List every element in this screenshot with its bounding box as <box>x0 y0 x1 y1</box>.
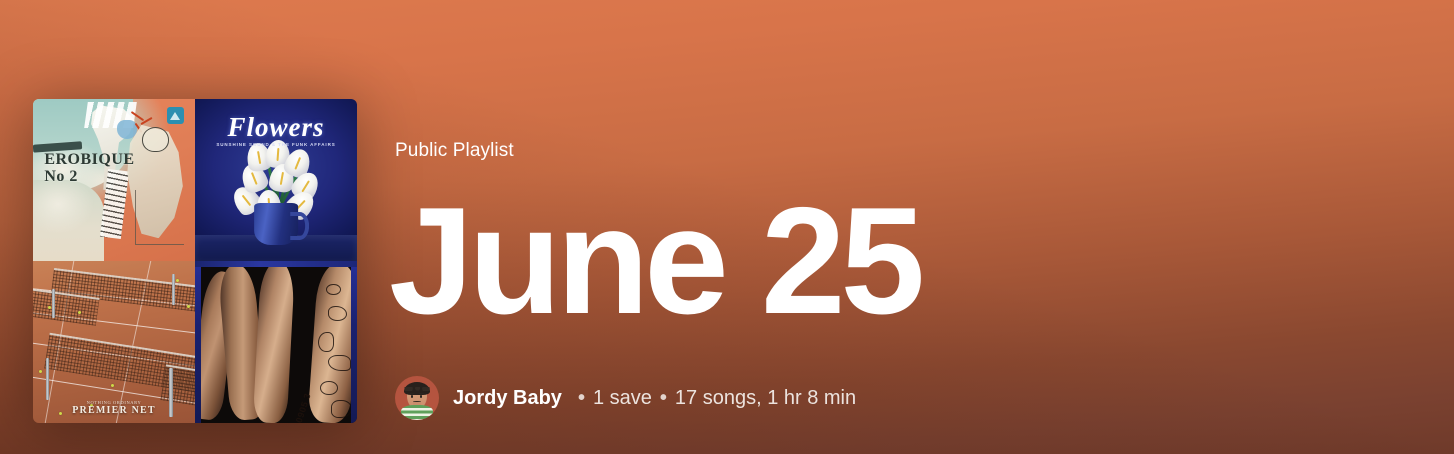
tattoo-mark <box>320 381 338 396</box>
tennis-ball <box>39 370 42 373</box>
meta-separator: • <box>578 388 585 408</box>
net-post <box>52 289 55 318</box>
avatar-striped-shirt <box>401 405 433 420</box>
tattoo-mark <box>328 306 347 321</box>
erobique-lower-sky-shape <box>33 180 104 261</box>
meta-separator: • <box>660 388 667 408</box>
erobique-title-line1: EROBIQUE <box>44 151 134 168</box>
album-art-flowers: Flowers SUNSHINE SOUND & THE FUNK AFFAIR… <box>195 99 357 261</box>
tennis-ball <box>111 384 114 387</box>
legs-left-border <box>195 261 201 423</box>
erobique-figure-head <box>142 127 170 153</box>
playlist-cover-collage[interactable]: EROBIQUE No 2 <box>33 99 357 423</box>
flowers-album-subtitle: SUNSHINE SOUND & THE FUNK AFFAIRS <box>195 142 357 147</box>
avatar-eyebrow <box>410 393 414 394</box>
erobique-chair-shape <box>135 190 184 245</box>
flowers-album-title: Flowers <box>195 112 357 143</box>
net-post <box>46 358 49 400</box>
erobique-label-badge-icon <box>167 107 184 124</box>
playlist-song-count-duration: 17 songs, 1 hr 8 min <box>675 388 856 408</box>
flowers-vase <box>254 203 298 245</box>
premier-net-brand: NOTHING ORDINARY PREMIER NET <box>33 400 195 417</box>
playlist-info: Public Playlist June 25 Jordy Baby • <box>395 141 1454 424</box>
tattoo-mark <box>331 400 352 418</box>
album-art-legs: 0905 3 <box>195 261 357 423</box>
album-art-erobique: EROBIQUE No 2 <box>33 99 195 261</box>
album-art-premier-net: NOTHING ORDINARY PREMIER NET <box>33 261 195 423</box>
tattoo-mark <box>318 332 334 351</box>
tennis-ball <box>176 279 179 282</box>
erobique-title-line2: No 2 <box>44 168 78 185</box>
playlist-save-count: 1 save <box>593 388 652 408</box>
avatar-hair <box>404 382 430 395</box>
premier-net-brand-line1: NOTHING ORDINARY <box>33 400 195 405</box>
avatar[interactable] <box>395 376 439 420</box>
avatar-eyebrow <box>419 393 423 394</box>
legs-right-border <box>351 261 357 423</box>
premier-net-brand-line2: PREMIER NET <box>33 405 195 417</box>
page-title[interactable]: June 25 <box>389 192 1454 332</box>
legs-top-border <box>195 261 357 267</box>
playlist-meta-row: Jordy Baby • 1 save • 17 songs, 1 hr 8 m… <box>395 376 1454 420</box>
playlist-owner-link[interactable]: Jordy Baby <box>453 388 562 408</box>
playlist-header: EROBIQUE No 2 <box>0 0 1454 454</box>
net-post <box>172 274 175 305</box>
avatar-eye <box>420 395 422 397</box>
erobique-album-title: EROBIQUE No 2 <box>44 152 134 186</box>
tennis-ball <box>187 305 190 308</box>
tattoo-mark <box>326 284 341 295</box>
playlist-type-label: Public Playlist <box>395 141 1454 160</box>
